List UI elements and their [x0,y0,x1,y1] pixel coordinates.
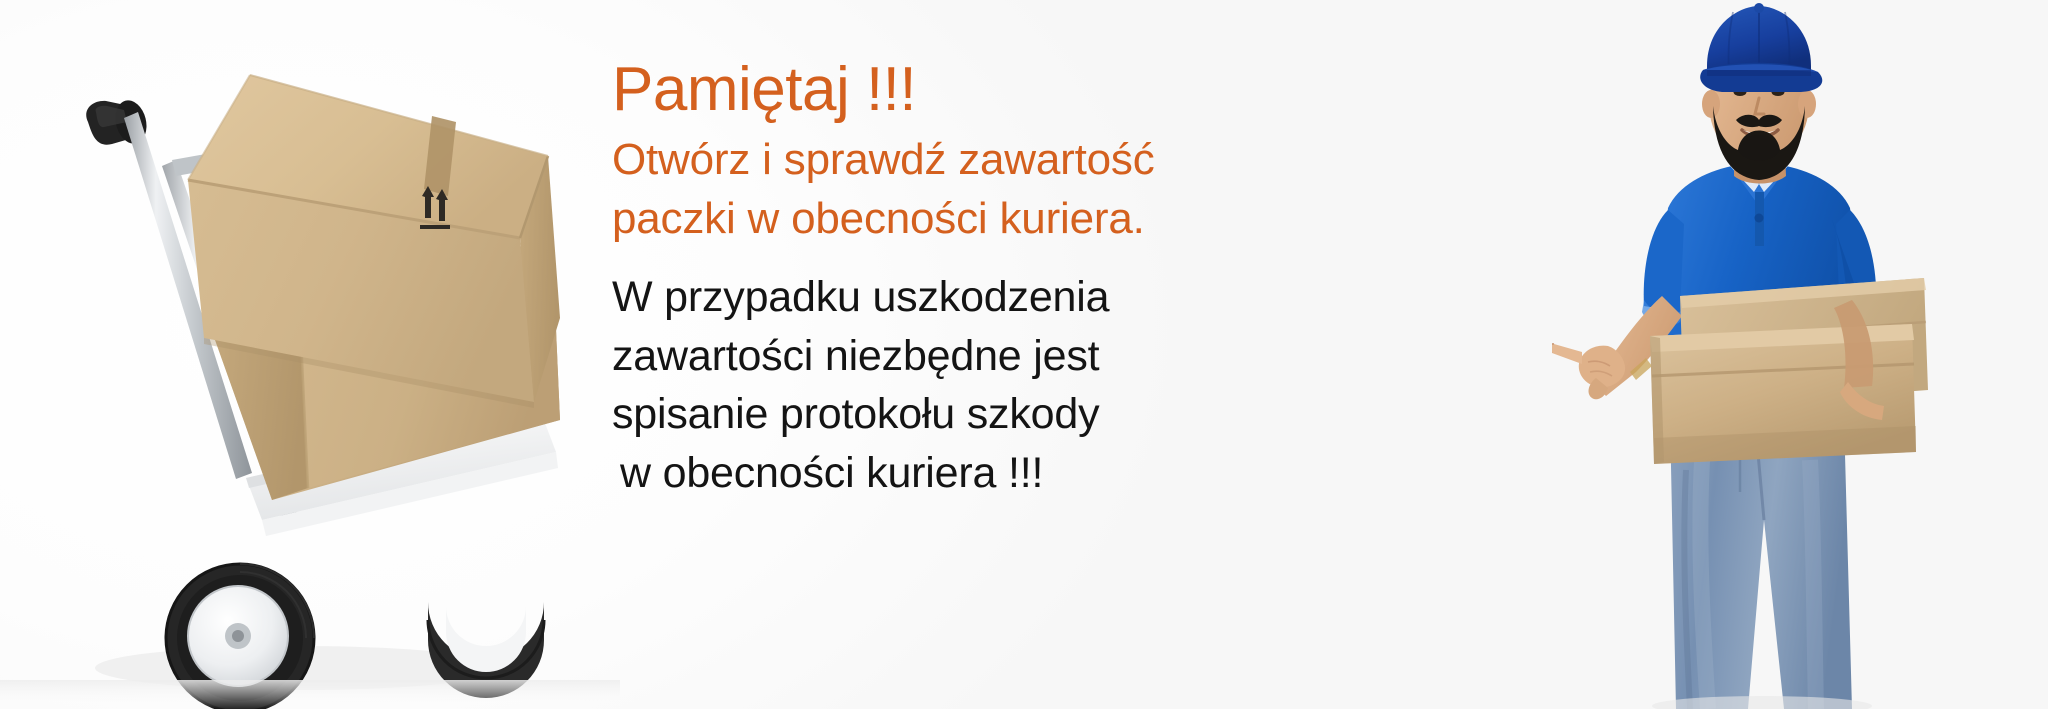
headline: Pamiętaj !!! [612,58,1172,121]
hand-truck-illustration [0,0,620,709]
subheading-line-1: Otwórz i sprawdź zawartość [612,131,1172,190]
courier-illustration [1552,0,1972,709]
body-paragraph: W przypadku uszkodzenia zawartości niezb… [612,268,1172,502]
held-cardboard-box-front [1650,324,1916,464]
body-line-4: w obecności kuriera !!! [612,444,1172,502]
message-block: Pamiętaj !!! Otwórz i sprawdź zawartość … [612,58,1172,502]
delivery-notice-banner: Pamiętaj !!! Otwórz i sprawdź zawartość … [0,0,2048,709]
body-line-2: zawartości niezbędne jest [612,327,1172,385]
body-line-1: W przypadku uszkodzenia [612,268,1172,326]
body-line-3: spisanie protokołu szkody [612,385,1172,443]
subheading: Otwórz i sprawdź zawartość paczki w obec… [612,131,1172,248]
subheading-line-2: paczki w obecności kuriera. [612,190,1172,249]
courier-cap [1700,3,1822,92]
